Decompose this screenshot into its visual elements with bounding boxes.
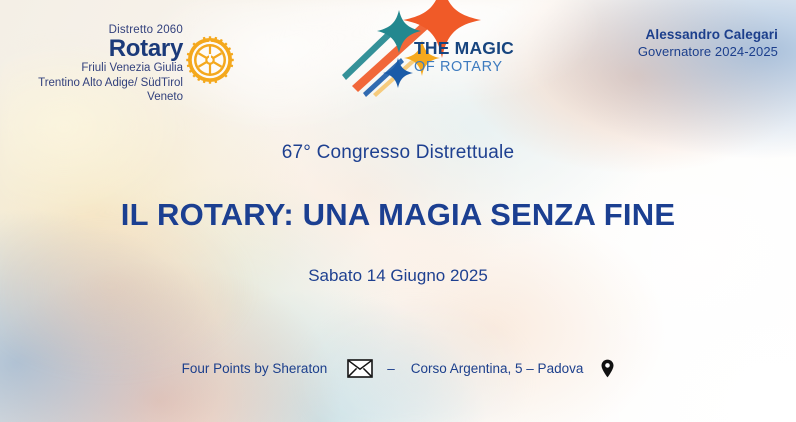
venue-name: Four Points by Sheraton [182,361,328,376]
rotary-wheel-icon [185,35,235,85]
governor-role: Governatore 2024-2025 [638,44,778,61]
event-headline: IL ROTARY: UNA MAGIA SENZA FINE [0,197,796,233]
governor-name: Alessandro Calegari [638,26,778,44]
presentation-slide: Distretto 2060 Rotary Friuli Venezia Giu… [0,0,796,422]
title-block: 67° Congresso Distrettuale IL ROTARY: UN… [0,142,796,286]
venue-line: Four Points by Sheraton – Corso Argentin… [0,359,796,378]
map-pin-icon [601,359,614,378]
district-region-line-2: Trentino Alto Adige/ SüdTirol [20,77,183,91]
rotary-district-logo: Distretto 2060 Rotary Friuli Venezia Giu… [20,24,235,105]
venue-separator: – [387,361,395,376]
envelope-icon [347,359,373,378]
governor-block: Alessandro Calegari Governatore 2024-202… [638,26,778,60]
magic-logo-line-2: OF ROTARY [414,59,503,75]
magic-logo-line-1: THE MAGIC [414,38,514,58]
event-date: Sabato 14 Giugno 2025 [0,266,796,286]
rotary-wordmark: Rotary [20,36,183,61]
magic-of-rotary-logo: THE MAGIC OF ROTARY [336,0,526,108]
district-region-line-3: Veneto [20,91,183,105]
district-region-line-1: Friuli Venezia Giulia [20,62,183,76]
event-kicker: 67° Congresso Distrettuale [0,142,796,164]
venue-address: Corso Argentina, 5 – Padova [411,361,584,376]
